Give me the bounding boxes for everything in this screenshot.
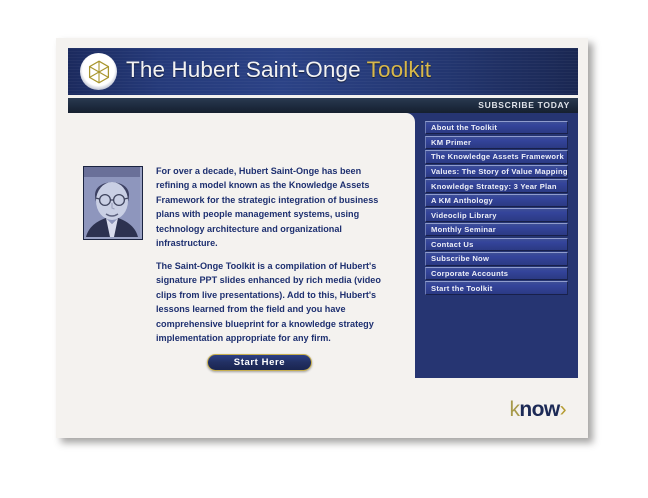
nav-item-monthly-seminar[interactable]: Monthly Seminar: [425, 223, 568, 236]
page-title-main: The Hubert Saint-Onge: [126, 57, 367, 82]
subscribe-strip: SUBSCRIBE TODAY: [68, 98, 578, 113]
content-card: For over a decade, Hubert Saint-Onge has…: [68, 113, 415, 413]
nav-item-corporate-accounts[interactable]: Corporate Accounts: [425, 267, 568, 280]
intro-paragraph-2: The Saint-Onge Toolkit is a compilation …: [156, 259, 396, 345]
nav-item-contact-us[interactable]: Contact Us: [425, 238, 568, 251]
nav-item-knowledge-assets-framework[interactable]: The Knowledge Assets Framework: [425, 150, 568, 163]
nav-item-subscribe-now[interactable]: Subscribe Now: [425, 252, 568, 265]
nav-item-knowledge-strategy-3-year-plan[interactable]: Knowledge Strategy: 3 Year Plan: [425, 179, 568, 192]
know-logo-chevron-icon: ›: [560, 398, 566, 421]
nav-item-about-the-toolkit[interactable]: About the Toolkit: [425, 121, 568, 134]
start-here-button[interactable]: Start Here: [207, 354, 312, 371]
subscribe-today-link[interactable]: SUBSCRIBE TODAY: [478, 100, 570, 110]
know-logo-k: k: [509, 398, 519, 421]
intro-paragraph-1: For over a decade, Hubert Saint-Onge has…: [156, 164, 396, 250]
avatar: [83, 166, 143, 240]
header-banner: The Hubert Saint-Onge Toolkit: [68, 48, 578, 95]
page-title-accent: Toolkit: [367, 57, 431, 82]
nav-menu: About the Toolkit KM Primer The Knowledg…: [425, 121, 568, 296]
body-region: For over a decade, Hubert Saint-Onge has…: [68, 113, 578, 413]
hexagon-star-logo-icon: [80, 53, 117, 90]
page-title: The Hubert Saint-Onge Toolkit: [126, 57, 431, 83]
nav-item-a-km-anthology[interactable]: A KM Anthology: [425, 194, 568, 207]
nav-item-values-story-of-value-mapping[interactable]: Values: The Story of Value Mapping: [425, 165, 568, 178]
page-sheet: The Hubert Saint-Onge Toolkit SUBSCRIBE …: [56, 38, 588, 438]
nav-item-start-the-toolkit[interactable]: Start the Toolkit: [425, 281, 568, 294]
nav-item-videoclip-library[interactable]: Videoclip Library: [425, 208, 568, 221]
know-logo-now: now: [519, 398, 559, 421]
nav-item-km-primer[interactable]: KM Primer: [425, 136, 568, 149]
know-brand-logo: know›: [509, 398, 566, 422]
